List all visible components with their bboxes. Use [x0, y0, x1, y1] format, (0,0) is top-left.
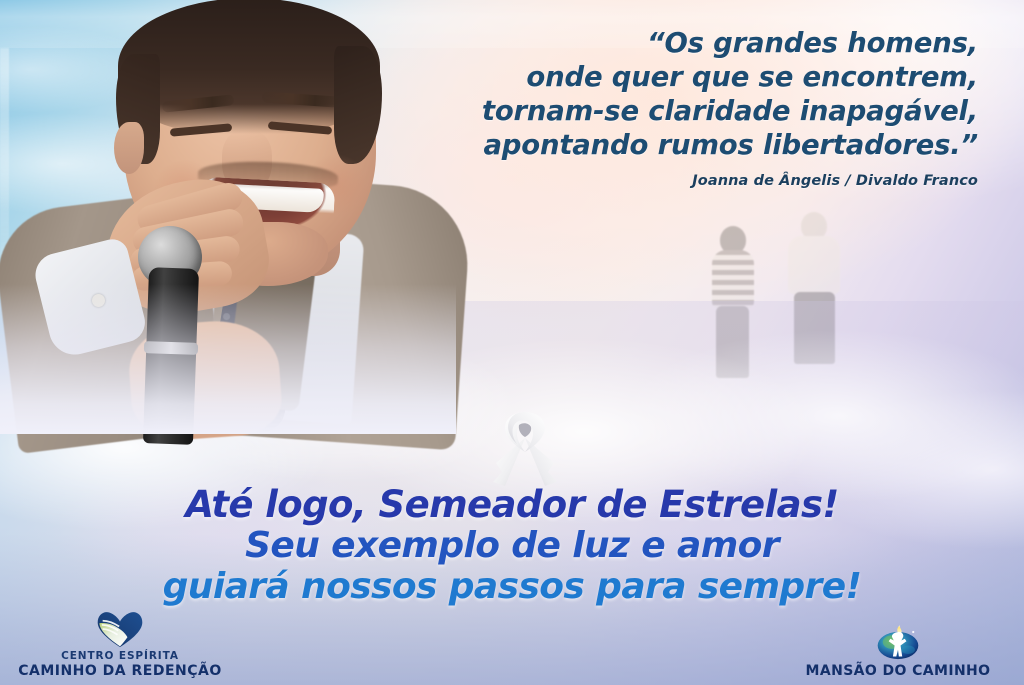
quote-line-2: onde quer que se encontrem, [438, 60, 978, 94]
headline-block: Até logo, Semeador de Estrelas! Seu exem… [0, 486, 1024, 605]
logo-mansao-do-caminho: MANSÃO DO CAMINHO [782, 624, 1014, 679]
headline-line-2: Seu exemplo de luz e amor [0, 527, 1024, 564]
logo-left-line-2: CAMINHO DA REDENÇÃO [14, 663, 226, 679]
portrait-photo [0, 0, 456, 434]
globe-figure-icon [782, 624, 1014, 662]
logo-centro-espirita: CENTRO ESPÍRITA CAMINHO DA REDENÇÃO [14, 610, 226, 679]
ear [114, 122, 144, 174]
heart-hands-icon [14, 610, 226, 648]
quote-line-1: “Os grandes homens, [438, 26, 978, 60]
quote-line-3: tornam-se claridade inapagável, [438, 94, 978, 128]
portrait-cloud-fade [0, 284, 456, 434]
memorial-poster: “Os grandes homens, onde quer que se enc… [0, 0, 1024, 685]
logo-left-line-1: CENTRO ESPÍRITA [14, 650, 226, 662]
logo-right-line-2: MANSÃO DO CAMINHO [782, 663, 1014, 679]
quote-line-4: apontando rumos libertadores.” [438, 128, 978, 162]
headline-line-1: Até logo, Semeador de Estrelas! [0, 486, 1024, 524]
headline-line-3: guiará nossos passos para sempre! [0, 568, 1024, 605]
white-ribbon-icon [489, 408, 561, 494]
quote-block: “Os grandes homens, onde quer que se enc… [438, 26, 978, 189]
quote-attribution: Joanna de Ângelis / Divaldo Franco [438, 173, 978, 189]
